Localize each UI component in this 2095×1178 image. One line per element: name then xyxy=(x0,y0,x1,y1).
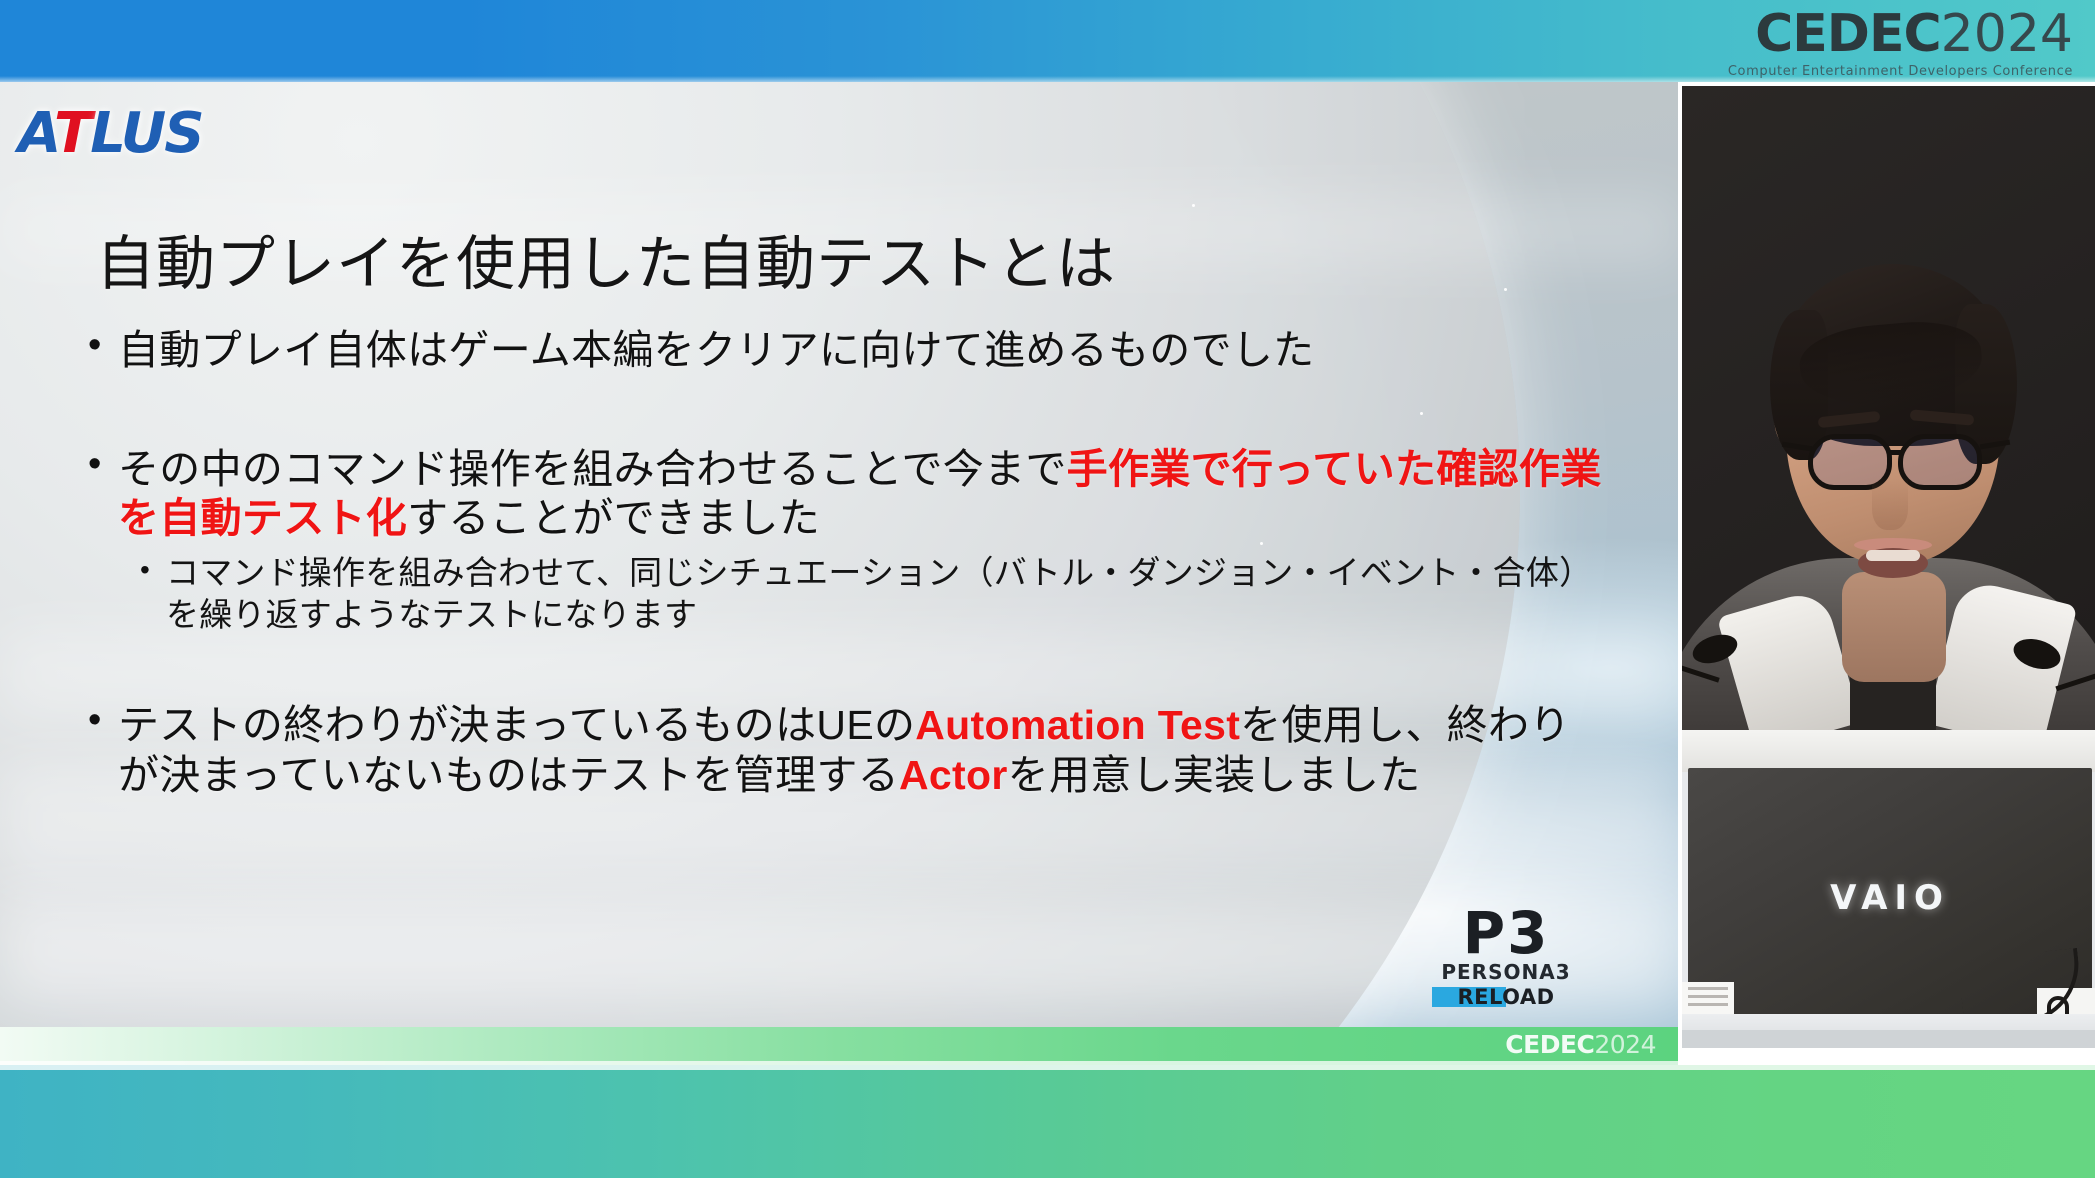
presentation-stream-frame: CEDEC2024 Computer Entertainment Develop… xyxy=(0,0,2095,1178)
desk-surface-back xyxy=(1682,730,2095,772)
cloud-band xyxy=(0,895,1678,1005)
atlus-logo-t: T xyxy=(54,101,90,166)
bullet-segment: 自動プレイ自体はゲーム本編をクリアに向けて進めるものでした xyxy=(118,327,1314,373)
atlus-logo-a: A xyxy=(18,101,54,166)
cedec-logo-year: 2024 xyxy=(1941,4,2073,64)
bullet-item: • テストの終わりが決まっているものはUEのAutomation Testを使用… xyxy=(88,701,1608,799)
bullet-item: • その中のコマンド操作を組み合わせることで今まで手作業で行っていた確認作業を自… xyxy=(88,445,1608,543)
sub-bullet-text: コマンド操作を組み合わせて、同じシチュエーション（バトル・ダンジョン・イベント・… xyxy=(166,552,1608,638)
paper-sheet-left xyxy=(1682,982,1734,1018)
atlus-logo: ATLUS xyxy=(18,106,203,162)
bottom-bar-highlight xyxy=(0,1065,2095,1070)
bullet-text: その中のコマンド操作を組み合わせることで今まで手作業で行っていた確認作業を自動テ… xyxy=(118,445,1608,543)
p3-logo-sub: PERSONA3 xyxy=(1432,962,1580,982)
slide-title: 自動プレイを使用した自動テストとは xyxy=(96,216,1116,301)
bullet-marker: • xyxy=(88,445,118,483)
speaker-nose xyxy=(1872,478,1908,530)
video-bottom-edge xyxy=(1682,1030,2095,1048)
p3-logo-reload: RELOAD xyxy=(1457,985,1554,1009)
star-speck xyxy=(1504,288,1507,291)
p3-logo-main: P3 xyxy=(1432,907,1580,960)
bullet-segment-highlight: Actor xyxy=(899,752,1008,798)
persona3-reload-logo: P3 PERSONA3 RELOAD xyxy=(1432,907,1580,1009)
sub-bullet-item: • コマンド操作を組み合わせて、同じシチュエーション（バトル・ダンジョン・イベン… xyxy=(140,552,1608,638)
cedec-footer-word: CEDEC xyxy=(1505,1030,1594,1059)
speaker-neck xyxy=(1842,572,1946,682)
p3-logo-reload-row: RELOAD xyxy=(1432,985,1580,1009)
bullet-segment: テストの終わりが決まっているものはUEの xyxy=(118,702,915,748)
speaker-desk-view: VAIO xyxy=(1682,730,2095,1048)
bullet-marker: • xyxy=(88,701,118,739)
glasses-lens-right xyxy=(1898,434,1982,490)
speaker-teeth xyxy=(1866,550,1920,561)
slide-area: ATLUS 自動プレイを使用した自動テストとは • 自動プレイ自体はゲーム本編を… xyxy=(0,82,1678,1027)
cedec-logo-tagline: Computer Entertainment Developers Confer… xyxy=(1728,65,2073,78)
bullet-text: テストの終わりが決まっているものはUEのAutomation Testを使用し、… xyxy=(118,701,1608,799)
cedec-footer-year: 2024 xyxy=(1594,1030,1656,1059)
sub-bullet-marker: • xyxy=(140,552,166,588)
slide-footer-strip: CEDEC2024 xyxy=(0,1027,1678,1065)
speaker-video-panel[interactable]: VAIO xyxy=(1682,86,2095,1048)
bullet-item: • 自動プレイ自体はゲーム本編をクリアに向けて進めるものでした xyxy=(88,326,1608,375)
bullet-segment: を用意し実装しました xyxy=(1008,752,1421,798)
bullet-marker: • xyxy=(88,326,118,364)
speaker-camera-view xyxy=(1682,86,2095,730)
atlus-logo-lus: LUS xyxy=(90,101,202,166)
bullet-segment: その中のコマンド操作を組み合わせることで今まで xyxy=(118,446,1067,492)
bottom-brand-bar xyxy=(0,1065,2095,1178)
cedec-logo-word: CEDEC xyxy=(1755,4,1941,64)
top-brand-bar: CEDEC2024 Computer Entertainment Develop… xyxy=(0,0,2095,82)
glasses-bridge xyxy=(1890,450,1904,455)
cedec-logo: CEDEC2024 Computer Entertainment Develop… xyxy=(1728,8,2073,78)
slide-body: • 自動プレイ自体はゲーム本編をクリアに向けて進めるものでした • その中のコマ… xyxy=(88,326,1608,800)
bullet-text: 自動プレイ自体はゲーム本編をクリアに向けて進めるものでした xyxy=(118,326,1314,375)
vaio-logo: VAIO xyxy=(1688,878,2092,918)
star-speck xyxy=(1192,204,1195,207)
bullet-segment: することができました xyxy=(407,495,820,541)
bullet-segment-highlight: Automation Test xyxy=(915,702,1240,748)
cedec-footer-watermark: CEDEC2024 xyxy=(1505,1032,1656,1057)
cedec-logo-text: CEDEC2024 xyxy=(1728,8,2073,60)
